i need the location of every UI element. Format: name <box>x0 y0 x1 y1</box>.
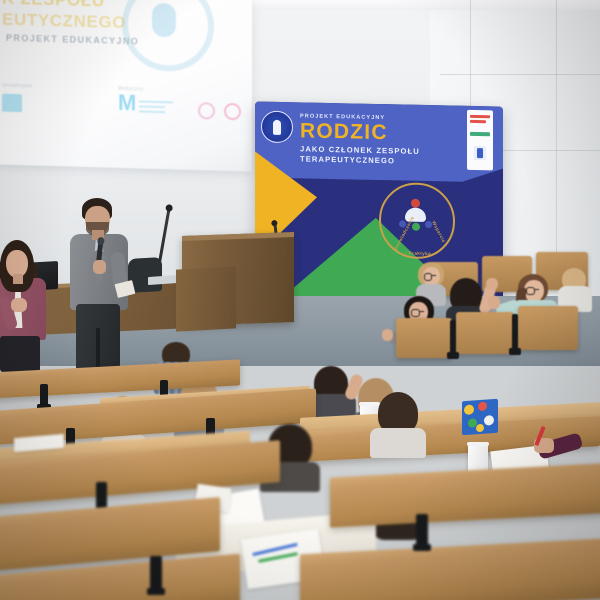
clapping-hands <box>11 298 27 312</box>
screen-logo-dot-icon <box>198 102 215 119</box>
projection-screen: K ZESPOŁU EUTYCZNEGO PROJEKT EDUKACYJNO … <box>0 0 252 172</box>
screen-logo-caption-left: Uniwersytet <box>2 83 33 90</box>
lectern-lower-shelf <box>176 266 236 331</box>
banner-logo-icon <box>261 111 293 144</box>
banner-title: RODZIC <box>300 120 388 144</box>
ring-word-left: Doświadczenie <box>393 215 415 251</box>
screen-logo-row: Uniwersytet Medyczny M <box>0 83 246 136</box>
screen-text-line2: EUTYCZNEGO <box>2 10 126 33</box>
desk-bracket <box>416 514 428 546</box>
lecture-hall-photo: K ZESPOŁU EUTYCZNEGO PROJEKT EDUKACYJNO … <box>0 0 600 600</box>
desk-bracket <box>40 384 48 406</box>
banner-sponsor-strip <box>467 110 493 171</box>
sponsor-green-logo-icon <box>470 132 490 136</box>
sponsor-blue-logo-icon <box>474 146 486 160</box>
ring-word-right: Wsparcie <box>431 220 447 243</box>
screen-logo-m-icon: M <box>118 94 136 113</box>
wall-panel-seam <box>556 0 557 270</box>
presenter-woman <box>0 240 52 370</box>
presenter-man <box>66 198 132 378</box>
sponsor-red-logo-icon <box>470 115 490 118</box>
screen-logo-u-icon <box>2 94 22 113</box>
screen-text-line3: PROJEKT EDUKACYJNO <box>6 33 139 47</box>
screen-emblem-icon <box>122 0 214 73</box>
banner-emblem-ring-text: Doświadczenie • Praktyka • Wsparcie <box>381 184 453 258</box>
desk-row-front-right <box>330 462 600 527</box>
colorful-tote-bag <box>462 399 498 436</box>
ring-word-mid: • Praktyka • <box>405 251 435 257</box>
screen-logo-dot-icon <box>224 103 241 120</box>
wall-panel-seam <box>440 74 600 75</box>
desk-bracket <box>150 556 162 590</box>
banner-circular-emblem: Doświadczenie • Praktyka • Wsparcie <box>379 182 455 260</box>
sponsor-red-logo-icon <box>470 120 486 123</box>
